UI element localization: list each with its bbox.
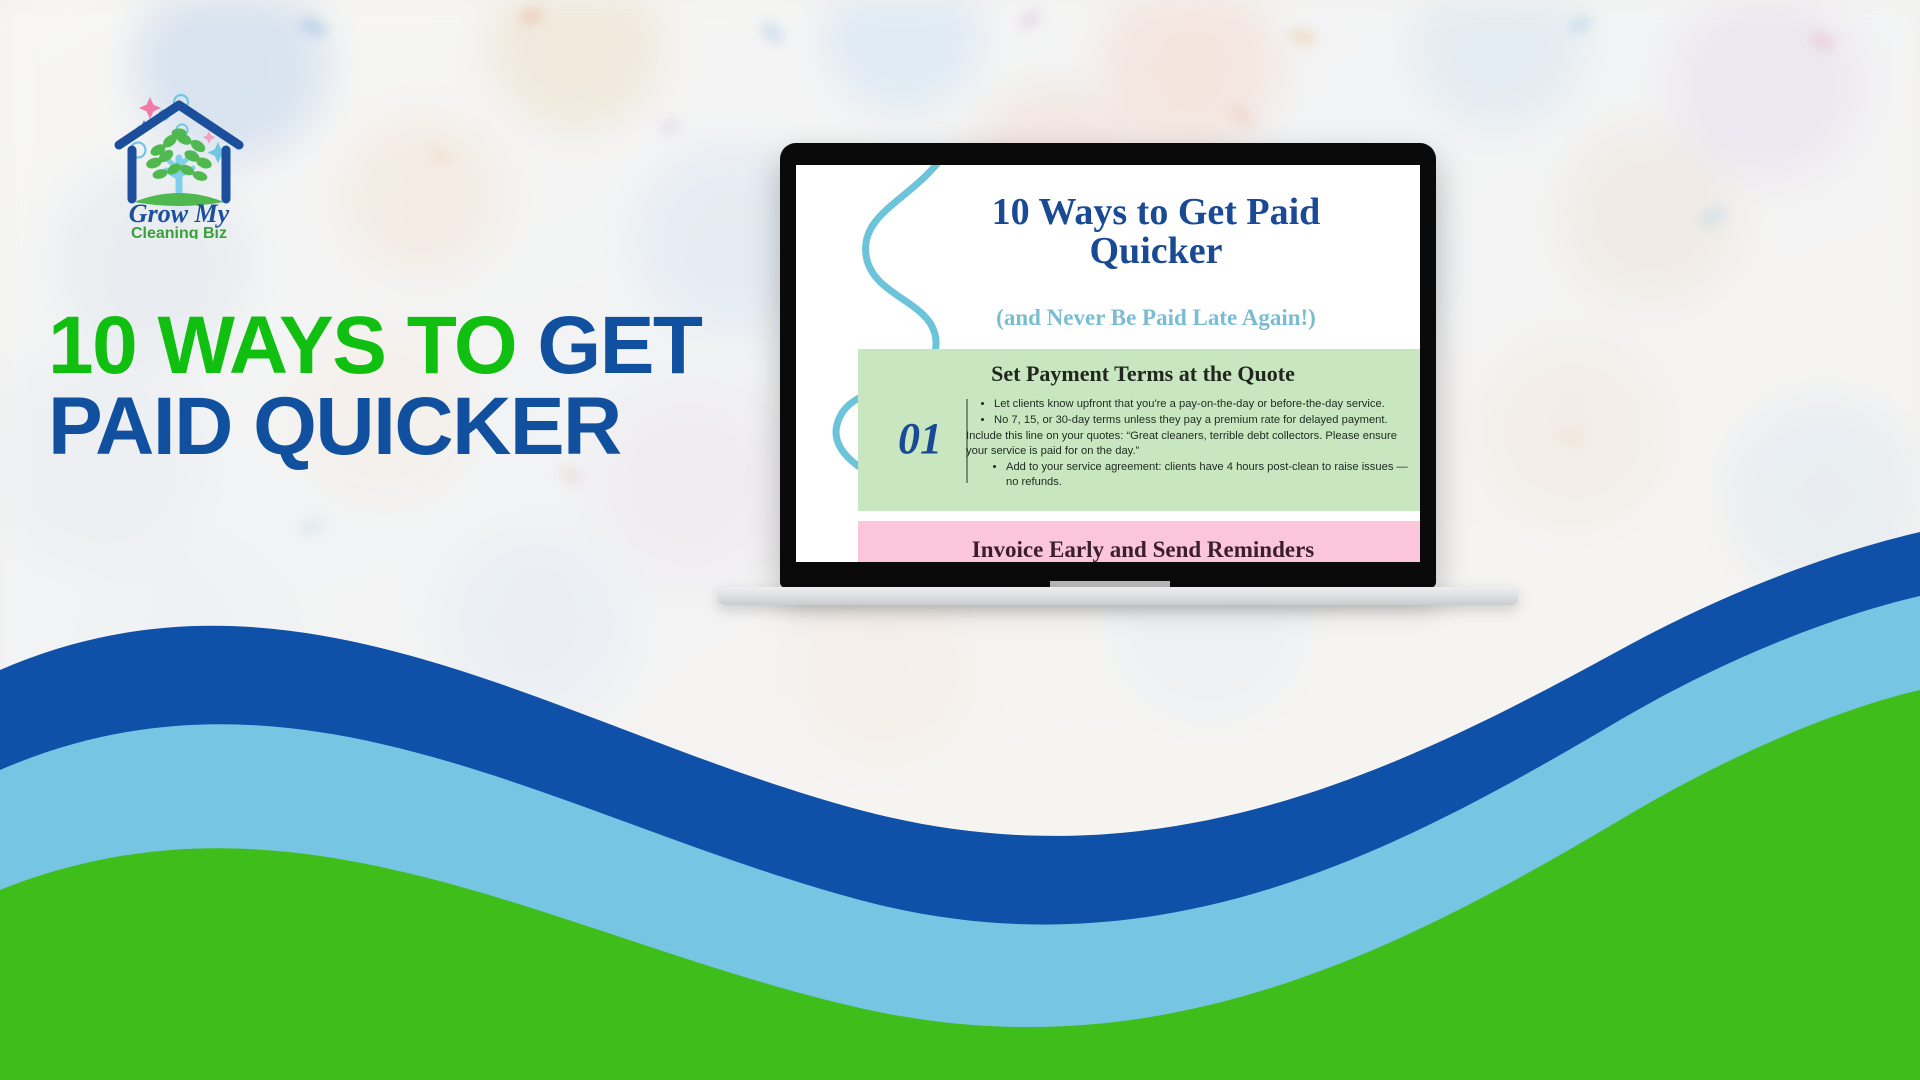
logo-line1: Grow My xyxy=(129,199,230,228)
slide-title-line-2: Quicker xyxy=(886,232,1420,271)
laptop-display: 10 Ways to Get Paid Quicker (and Never B… xyxy=(796,165,1420,562)
page-headline: 10 WAYS TO GET PAID QUICKER xyxy=(48,305,808,467)
card-01-body: 01 Let clients know upfront that you're … xyxy=(858,387,1420,491)
headline-green-text: 10 WAYS TO xyxy=(48,300,537,391)
card-01-bullets-bottom: Add to your service agreement: clients h… xyxy=(1006,460,1414,490)
list-item: Let clients know upfront that you're a p… xyxy=(994,397,1414,412)
grow-my-cleaning-biz-logo: Grow My Cleaning Biz xyxy=(108,84,250,239)
card-01-heading: Set Payment Terms at the Quote xyxy=(858,349,1420,387)
card-01-bullets-top: Let clients know upfront that you're a p… xyxy=(994,397,1414,428)
list-item: Add to your service agreement: clients h… xyxy=(1006,460,1414,490)
slide-card-01: Set Payment Terms at the Quote 01 Let cl… xyxy=(858,349,1420,511)
card-01-paragraph: Include this line on your quotes: “Great… xyxy=(966,429,1414,459)
card-01-number: 01 xyxy=(874,397,966,491)
list-item: No 7, 15, or 30-day terms unless they pa… xyxy=(994,413,1414,428)
logo-line2: Cleaning Biz xyxy=(131,225,227,239)
headline-line-2: PAID QUICKER xyxy=(48,386,808,467)
slide-subtitle: (and Never Be Paid Late Again!) xyxy=(886,305,1420,331)
slide-title-line-1: 10 Ways to Get Paid xyxy=(886,193,1420,232)
slide-title: 10 Ways to Get Paid Quicker xyxy=(886,193,1420,271)
card-01-text: Let clients know upfront that you're a p… xyxy=(980,397,1414,491)
headline-blue-word: GET xyxy=(537,300,701,391)
decorative-waves xyxy=(0,520,1920,1080)
headline-line-1: 10 WAYS TO GET xyxy=(48,305,808,386)
presentation-slide: 10 Ways to Get Paid Quicker (and Never B… xyxy=(796,165,1420,562)
tree-icon xyxy=(145,128,213,200)
